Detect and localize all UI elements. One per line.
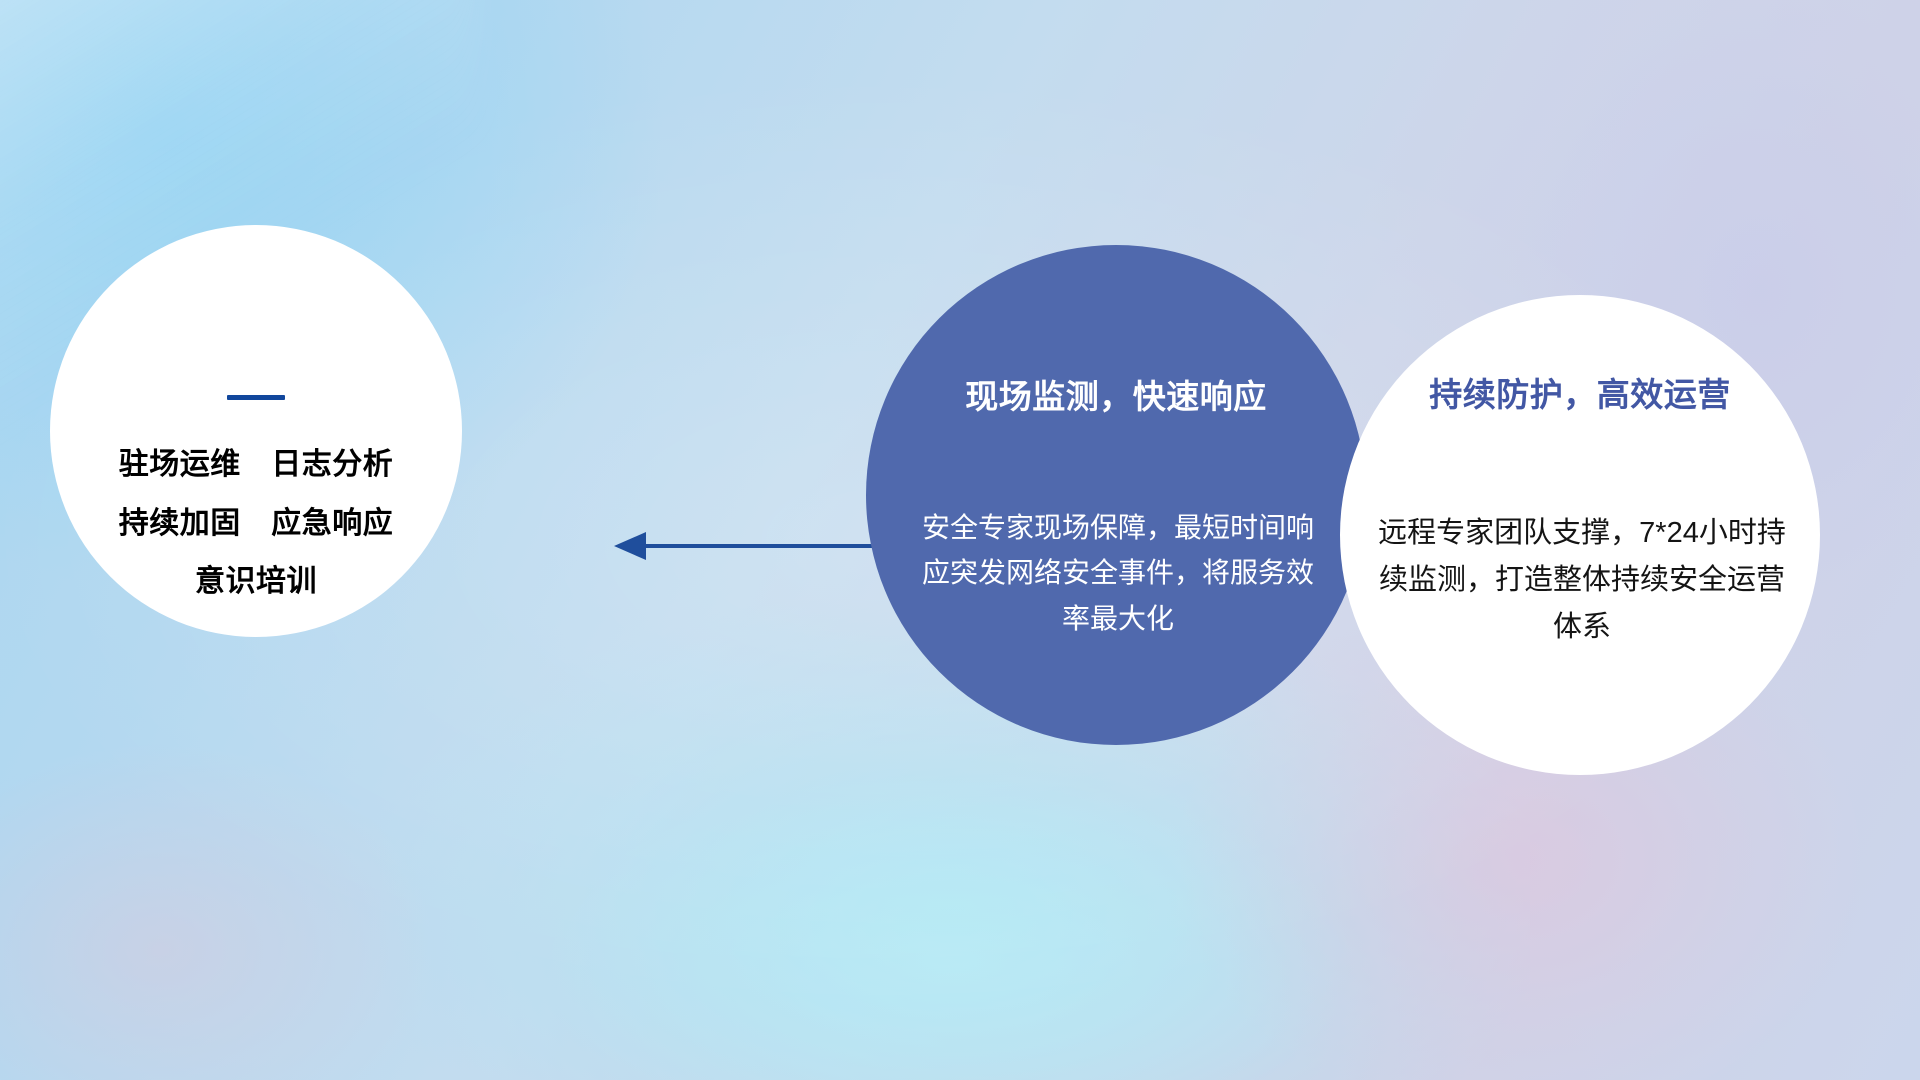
slide-canvas: 现场监测，快速响应 安全专家现场保障，最短时间响应突发网络安全事件，将服务效率最… — [0, 0, 1920, 1080]
continuous-protection-body: 远程专家团队支撑，7*24小时持续监测，打造整体持续安全运营体系 — [1368, 510, 1796, 651]
service-capabilities-circle[interactable]: 驻场运维 日志分析 持续加固 应急响应 意识培训 — [50, 225, 462, 637]
onsite-monitoring-body: 安全专家现场保障，最短时间响应突发网络安全事件，将服务效率最大化 — [918, 505, 1318, 641]
divider-dash — [227, 395, 285, 400]
list-item: 驻场运维 日志分析 — [119, 436, 394, 495]
onsite-monitoring-circle[interactable] — [866, 245, 1366, 745]
list-item: 持续加固 应急响应 — [119, 495, 394, 554]
continuous-protection-title: 持续防护，高效运营 — [1340, 368, 1820, 416]
service-capabilities-list: 驻场运维 日志分析 持续加固 应急响应 意识培训 — [119, 436, 394, 612]
list-item: 意识培训 — [119, 553, 394, 612]
onsite-monitoring-title: 现场监测，快速响应 — [866, 370, 1366, 418]
left-pointing-arrow — [600, 520, 900, 572]
